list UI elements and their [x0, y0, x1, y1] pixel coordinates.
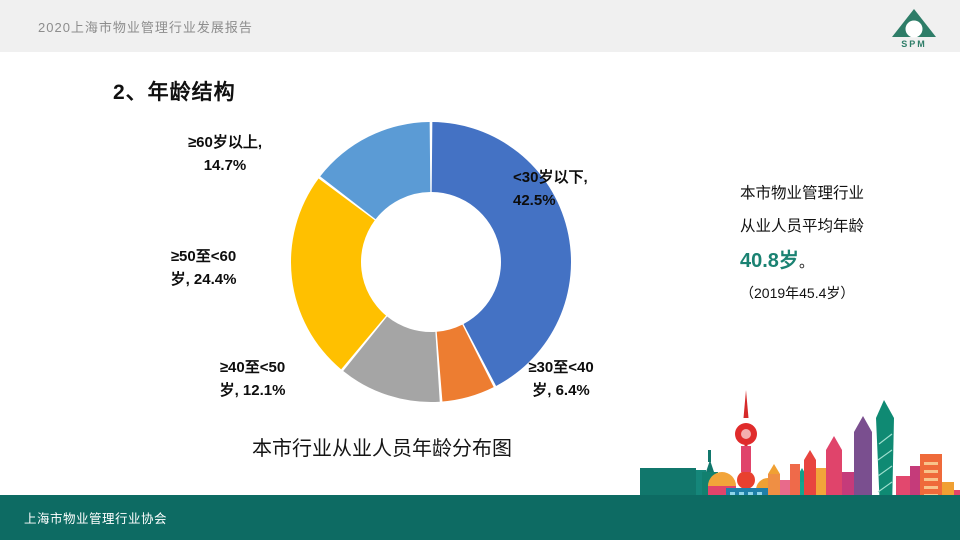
data-label-60-plus: ≥60岁以上, 14.7% [150, 131, 300, 178]
chart-caption: 本市行业从业人员年龄分布图 [222, 432, 542, 461]
data-label-under-30-line2: 42.5% [513, 189, 653, 212]
data-label-50-to-60-line1: ≥50至<60 [126, 245, 281, 268]
shanghai-skyline-svg [640, 372, 960, 512]
data-label-40-to-50: ≥40至<50 岁, 12.1% [175, 356, 330, 403]
data-label-30-to-40: ≥30至<40 岁, 6.4% [486, 356, 636, 403]
svg-text:SPM: SPM [901, 39, 927, 49]
data-label-40-to-50-line2: 岁, 12.1% [175, 379, 330, 402]
shanghai-skyline-icon [640, 372, 960, 512]
data-label-60-plus-line1: ≥60岁以上, [150, 131, 300, 154]
section-title: 2、年龄结构 [113, 76, 236, 106]
average-age-number: 40.8岁 [740, 250, 799, 272]
data-label-under-30-line1: <30岁以下, [513, 166, 653, 189]
header-title: 2020上海市物业管理行业发展报告 [38, 17, 253, 36]
spm-logo: SPM [886, 5, 942, 49]
page-header: 2020上海市物业管理行业发展报告 SPM [0, 0, 960, 52]
average-age-panel: 本市物业管理行业 从业人员平均年龄 40.8岁。 （2019年45.4岁） [740, 178, 940, 308]
data-label-under-30: <30岁以下, 42.5% [513, 166, 653, 213]
average-age-previous-year: （2019年45.4岁） [740, 279, 940, 308]
data-label-40-to-50-line1: ≥40至<50 [175, 356, 330, 379]
average-age-period: 。 [799, 254, 814, 271]
data-label-50-to-60-line2: 岁, 24.4% [126, 268, 281, 291]
average-age-value: 40.8岁。 [740, 243, 940, 279]
footer-organization-name: 上海市物业管理行业协会 [24, 508, 167, 527]
average-age-line-2: 从业人员平均年龄 [740, 211, 940, 244]
page-footer: 上海市物业管理行业协会 [0, 495, 960, 540]
average-age-line-1: 本市物业管理行业 [740, 178, 940, 211]
data-label-50-to-60: ≥50至<60 岁, 24.4% [126, 245, 281, 292]
data-label-30-to-40-line1: ≥30至<40 [486, 356, 636, 379]
data-label-30-to-40-line2: 岁, 6.4% [486, 379, 636, 402]
spm-triangle-logo-icon: SPM [886, 5, 942, 49]
data-label-60-plus-line2: 14.7% [150, 154, 300, 177]
